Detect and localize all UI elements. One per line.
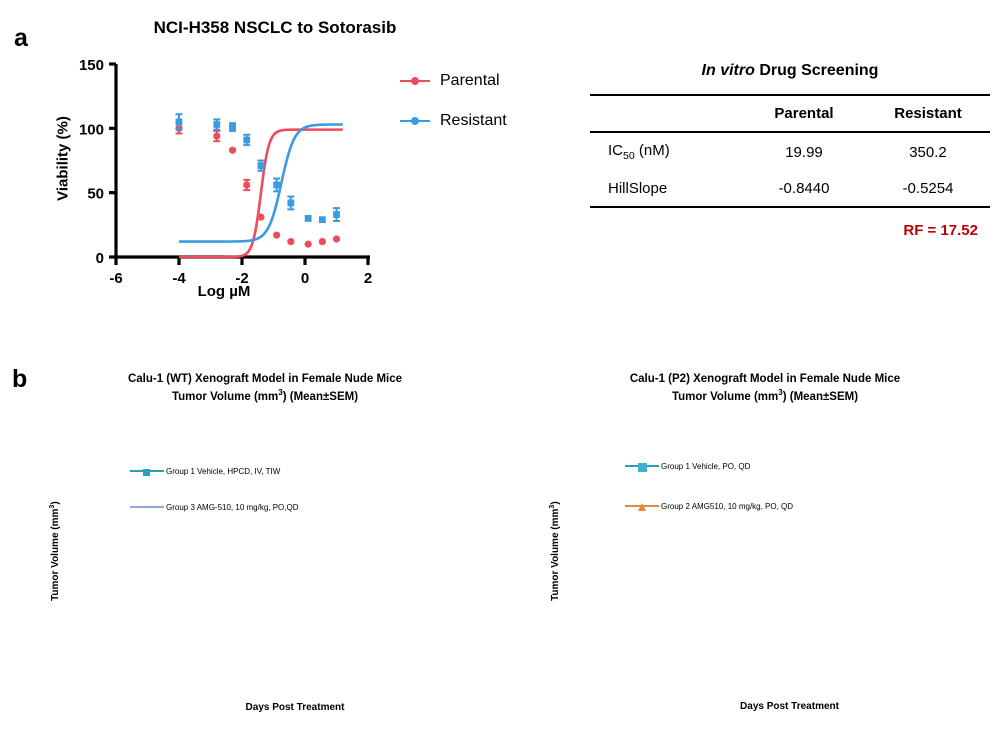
panel-a-legend: Parental Resistant bbox=[400, 70, 507, 150]
y-tick-label: 150 bbox=[79, 57, 104, 74]
resistance-factor-note: RF = 17.52 bbox=[590, 222, 990, 239]
cell-hillslope-parental: -0.8440 bbox=[742, 171, 866, 207]
data-point bbox=[213, 121, 220, 128]
table-title: In vitro Drug Screening bbox=[590, 62, 990, 80]
data-point bbox=[229, 147, 236, 154]
legend-item-resistant: Resistant bbox=[400, 110, 507, 132]
panel-b-left-y-axis-label: Tumor Volume (mm3) bbox=[0, 490, 115, 610]
group3-line-marker-icon bbox=[130, 502, 164, 512]
data-point bbox=[273, 182, 280, 189]
y-tick-label: 0 bbox=[96, 250, 104, 267]
data-point bbox=[258, 162, 265, 169]
legend-item-group1-vehicle: Group 1 Vehicle, HPCD, IV, TIW bbox=[130, 466, 299, 476]
col-header-parental: Parental bbox=[742, 95, 866, 132]
group2-line-marker-icon bbox=[625, 501, 659, 511]
legend-item-group2-amg510: Group 2 AMG510, 10 mg/kg, PO, QD bbox=[625, 501, 793, 511]
panel-b-right-x-axis-label: Days Post Treatment bbox=[587, 701, 992, 712]
x-tick-label: 2 bbox=[364, 270, 372, 287]
fit-curve-resistant bbox=[179, 124, 343, 241]
data-point bbox=[305, 241, 312, 248]
table-row: HillSlope -0.8440 -0.5254 bbox=[590, 171, 990, 207]
table-header-row: Parental Resistant bbox=[590, 95, 990, 132]
table-title-italic: In vitro bbox=[702, 62, 755, 79]
table-title-rest: Drug Screening bbox=[755, 62, 879, 79]
cell-ic50-resistant: 350.2 bbox=[866, 132, 990, 171]
in-vitro-drug-screening-table: In vitro Drug Screening Parental Resista… bbox=[590, 62, 990, 239]
legend-item-group3-amg510: Group 3 AMG-510, 10 mg/kg, PO,QD bbox=[130, 502, 299, 512]
legend-label-group1: Group 1 Vehicle, PO, QD bbox=[661, 462, 750, 471]
legend-label-group2: Group 2 AMG510, 10 mg/kg, PO, QD bbox=[661, 502, 793, 511]
panel-a-x-axis-label: Log µM bbox=[116, 283, 332, 300]
data-point bbox=[333, 235, 340, 242]
data-point bbox=[319, 216, 326, 223]
legend-item-parental: Parental bbox=[400, 70, 507, 92]
data-point bbox=[319, 238, 326, 245]
group1-line-marker-icon bbox=[625, 461, 659, 471]
data-point bbox=[287, 238, 294, 245]
panel-b-left-x-axis-label: Days Post Treatment bbox=[93, 702, 497, 713]
panel-b-right-legend: Group 1 Vehicle, PO, QD Group 2 AMG510, … bbox=[625, 461, 793, 511]
panel-a-y-axis-label: Viability (%) bbox=[10, 105, 120, 215]
data-point bbox=[176, 119, 183, 126]
resistant-marker-icon bbox=[400, 115, 430, 127]
data-point bbox=[229, 124, 236, 131]
legend-label-resistant: Resistant bbox=[440, 112, 507, 130]
legend-label-group1: Group 1 Vehicle, HPCD, IV, TIW bbox=[166, 467, 280, 476]
legend-label-parental: Parental bbox=[440, 72, 500, 90]
data-point bbox=[243, 137, 250, 144]
cell-hillslope-resistant: -0.5254 bbox=[866, 171, 990, 207]
cell-ic50-parental: 19.99 bbox=[742, 132, 866, 171]
row-label-hillslope: HillSlope bbox=[590, 171, 742, 207]
panel-b-left-legend: Group 1 Vehicle, HPCD, IV, TIW Group 3 A… bbox=[130, 466, 299, 512]
col-header-resistant: Resistant bbox=[866, 95, 990, 132]
data-point bbox=[333, 211, 340, 218]
data-point bbox=[273, 232, 280, 239]
data-point bbox=[213, 132, 220, 139]
col-header-blank bbox=[590, 95, 742, 132]
panel-b-right-y-axis-label: Tumor Volume (mm3) bbox=[495, 490, 615, 610]
group1-line-marker-icon bbox=[130, 466, 164, 476]
table: Parental Resistant IC50 (nM) 19.99 350.2… bbox=[590, 94, 990, 208]
data-point bbox=[257, 214, 264, 221]
legend-item-group1-vehicle-po: Group 1 Vehicle, PO, QD bbox=[625, 461, 793, 471]
row-label-ic50: IC50 (nM) bbox=[590, 132, 742, 171]
data-point bbox=[305, 215, 312, 222]
parental-marker-icon bbox=[400, 75, 430, 87]
data-point bbox=[287, 200, 294, 207]
table-row: IC50 (nM) 19.99 350.2 bbox=[590, 132, 990, 171]
legend-label-group3: Group 3 AMG-510, 10 mg/kg, PO,QD bbox=[166, 503, 299, 512]
data-point bbox=[243, 181, 250, 188]
